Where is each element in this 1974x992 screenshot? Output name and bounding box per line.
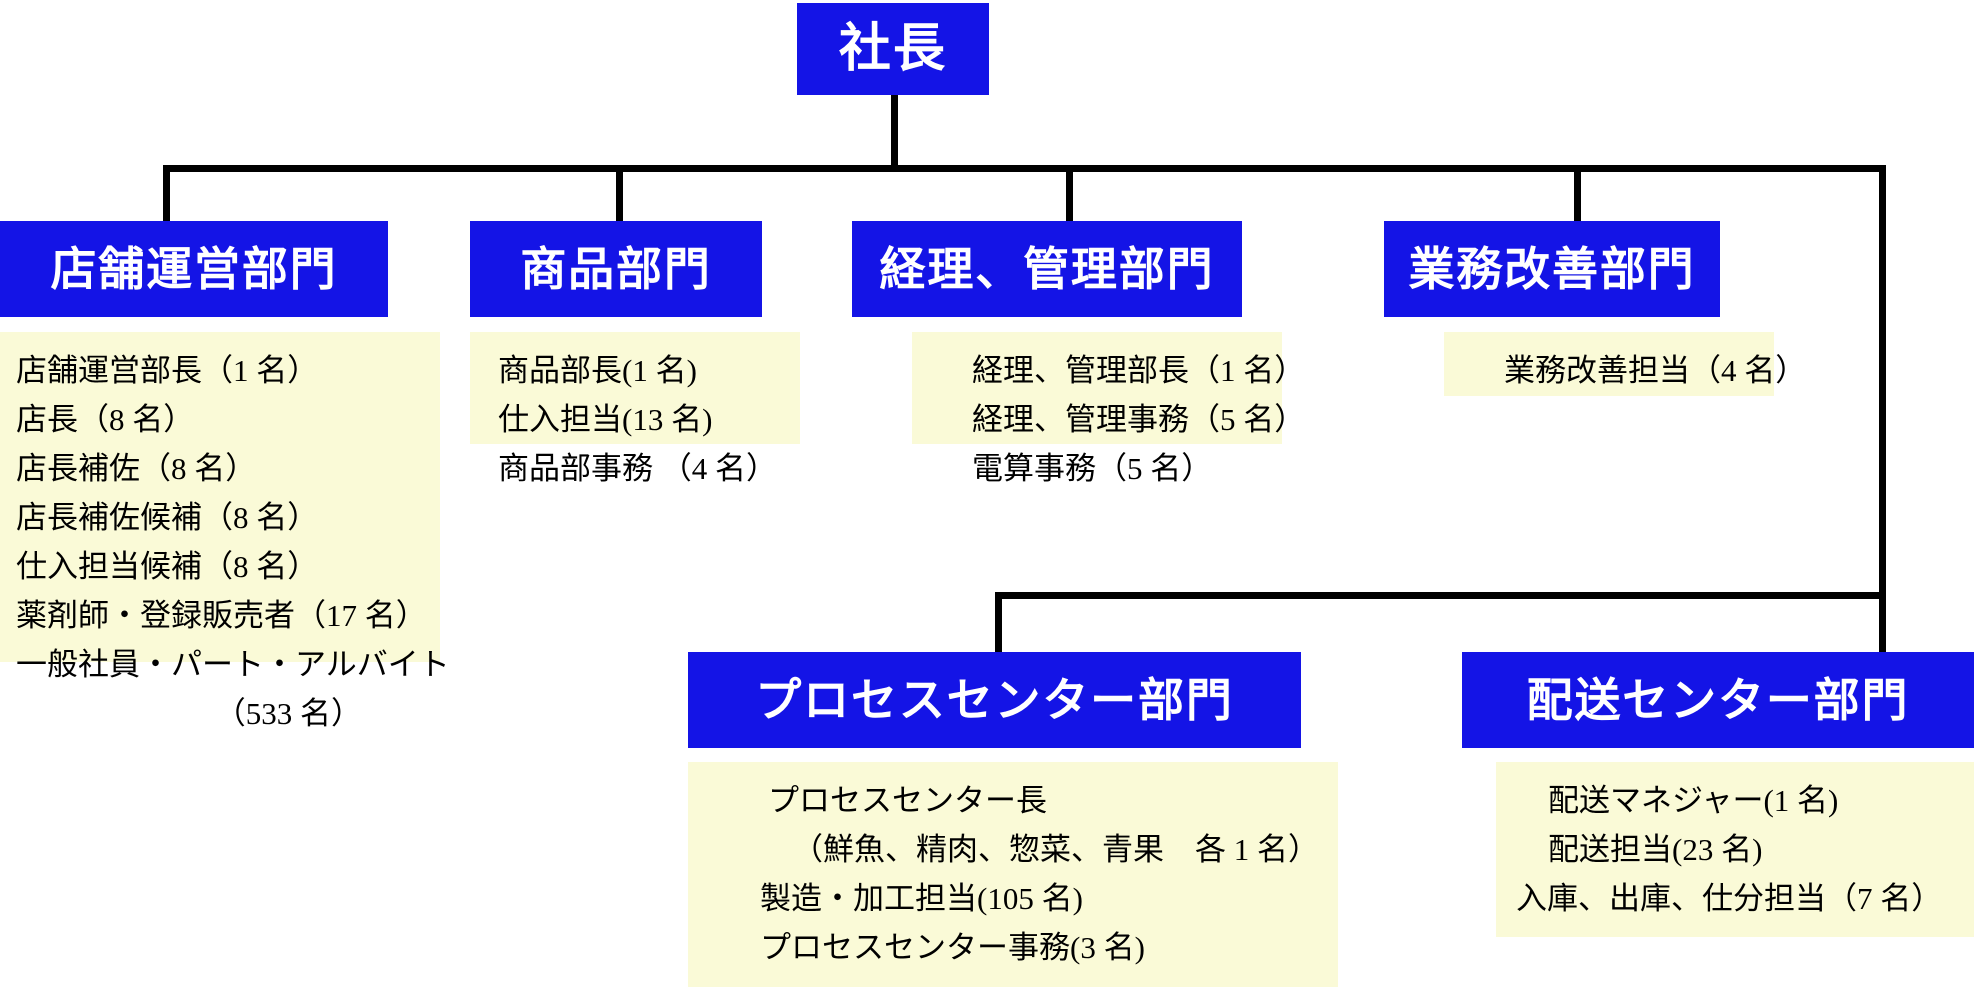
role-item: 業務改善担当（4 名） [1444, 346, 1774, 395]
connector-main-bus [163, 165, 1886, 172]
role-item: （鮮魚、精肉、惣菜、青果 各 1 名） [688, 825, 1338, 874]
role-item: 店長補佐（8 名） [0, 444, 440, 493]
node-store-operations-label: 店舗運営部門 [50, 246, 337, 292]
role-item: プロセスセンター事務(3 名) [688, 923, 1338, 972]
connector-drop-merchandise [616, 165, 623, 222]
role-item: （533 名） [0, 689, 440, 738]
role-item: 入庫、出庫、仕分担当（7 名） [1496, 874, 1974, 923]
role-item: 商品部長(1 名) [470, 346, 800, 395]
role-item: 配送担当(23 名) [1496, 825, 1974, 874]
node-store-operations-details: 店舗運営部長（1 名） 店長（8 名） 店長補佐（8 名） 店長補佐候補（8 名… [0, 332, 440, 662]
connector-drop-delivery-center [1879, 592, 1886, 652]
node-president-label: 社長 [839, 23, 947, 75]
node-president[interactable]: 社長 [797, 3, 989, 95]
node-delivery-center[interactable]: 配送センター部門 [1462, 652, 1974, 748]
connector-drop-business-improvement [1574, 165, 1581, 222]
role-item: 製造・加工担当(105 名) [688, 874, 1338, 923]
node-accounting-administration-label: 経理、管理部門 [880, 246, 1215, 292]
role-item: 薬剤師・登録販売者（17 名） [0, 591, 440, 640]
role-item: 仕入担当(13 名) [470, 395, 800, 444]
role-item: 店長補佐候補（8 名） [0, 493, 440, 542]
node-business-improvement[interactable]: 業務改善部門 [1384, 221, 1720, 317]
connector-right-riser [1879, 165, 1886, 599]
role-item: 経理、管理事務（5 名） [912, 395, 1282, 444]
node-store-operations[interactable]: 店舗運営部門 [0, 221, 388, 317]
node-business-improvement-details: 業務改善担当（4 名） [1444, 332, 1774, 396]
node-merchandise-label: 商品部門 [520, 246, 711, 292]
role-item: 配送マネジャー(1 名) [1496, 776, 1974, 825]
role-item: 店長（8 名） [0, 395, 440, 444]
connector-drop-accounting [1066, 165, 1073, 222]
connector-drop-process-center [995, 592, 1002, 652]
connector-secondary-bus [995, 592, 1886, 599]
node-delivery-center-details: 配送マネジャー(1 名) 配送担当(23 名) 入庫、出庫、仕分担当（7 名） [1496, 762, 1974, 937]
role-item: 経理、管理部長（1 名） [912, 346, 1282, 395]
org-chart: 社長 店舗運営部門 店舗運営部長（1 名） 店長（8 名） 店長補佐（8 名） … [0, 0, 1974, 992]
role-item: 電算事務（5 名） [912, 444, 1282, 493]
role-item: 仕入担当候補（8 名） [0, 542, 440, 591]
node-accounting-administration-details: 経理、管理部長（1 名） 経理、管理事務（5 名） 電算事務（5 名） [912, 332, 1282, 444]
node-process-center[interactable]: プロセスセンター部門 [688, 652, 1301, 748]
node-process-center-label: プロセスセンター部門 [755, 677, 1233, 723]
connector-president-stem [891, 94, 898, 170]
role-item: 店舗運営部長（1 名） [0, 346, 440, 395]
role-item: 商品部事務 （4 名） [470, 444, 800, 493]
connector-drop-store-operations [163, 165, 170, 222]
role-item: プロセスセンター長 [688, 776, 1338, 825]
node-process-center-details: プロセスセンター長 （鮮魚、精肉、惣菜、青果 各 1 名） 製造・加工担当(10… [688, 762, 1338, 987]
role-item: 一般社員・パート・アルバイト [0, 640, 440, 689]
node-merchandise-details: 商品部長(1 名) 仕入担当(13 名) 商品部事務 （4 名） [470, 332, 800, 444]
node-merchandise[interactable]: 商品部門 [470, 221, 762, 317]
node-delivery-center-label: 配送センター部門 [1527, 677, 1910, 723]
node-accounting-administration[interactable]: 経理、管理部門 [852, 221, 1242, 317]
node-business-improvement-label: 業務改善部門 [1408, 246, 1695, 292]
